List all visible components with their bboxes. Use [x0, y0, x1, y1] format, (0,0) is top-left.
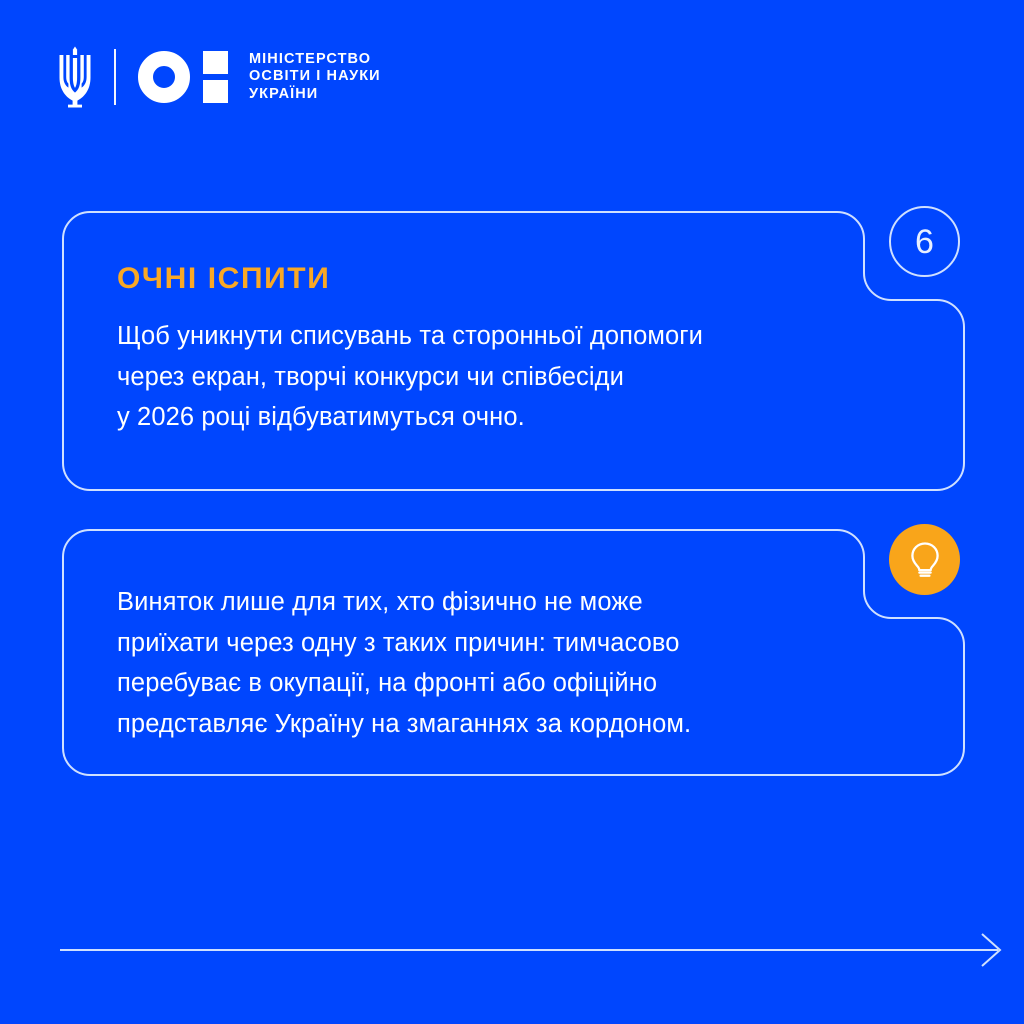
lightbulb-icon	[907, 540, 943, 580]
card-exception-text: Виняток лише для тих, хто фізично не мож…	[117, 582, 895, 744]
step-number-badge: 6	[889, 206, 960, 277]
mon-logo-mark-icon	[138, 49, 228, 105]
logo-ring-icon	[138, 51, 190, 103]
card-exams-title: ОЧНІ ІСПИТИ	[117, 262, 895, 296]
header-logo-lockup: МІНІСТЕРСТВО ОСВІТИ І НАУКИ УКРАЇНИ	[58, 44, 381, 110]
card-exception: Виняток лише для тих, хто фізично не мож…	[62, 529, 965, 777]
card-exams-body: ОЧНІ ІСПИТИ Щоб уникнути списувань та ст…	[117, 211, 895, 438]
logo-square-bottom	[203, 80, 228, 103]
ukraine-trident-icon	[58, 46, 92, 108]
card-exception-body: Виняток лише для тих, хто фізично не мож…	[117, 529, 895, 744]
logo-squares-icon	[203, 51, 228, 103]
card-exams: ОЧНІ ІСПИТИ Щоб уникнути списувань та ст…	[62, 211, 965, 492]
logo-square-top	[203, 51, 228, 74]
card-exams-text: Щоб уникнути списувань та сторонньої доп…	[117, 316, 895, 438]
arrow-right-icon[interactable]	[60, 928, 1004, 972]
logo-divider	[114, 49, 116, 105]
ministry-name: МІНІСТЕРСТВО ОСВІТИ І НАУКИ УКРАЇНИ	[249, 51, 381, 104]
step-number-value: 6	[915, 225, 934, 259]
tip-badge	[889, 524, 960, 595]
